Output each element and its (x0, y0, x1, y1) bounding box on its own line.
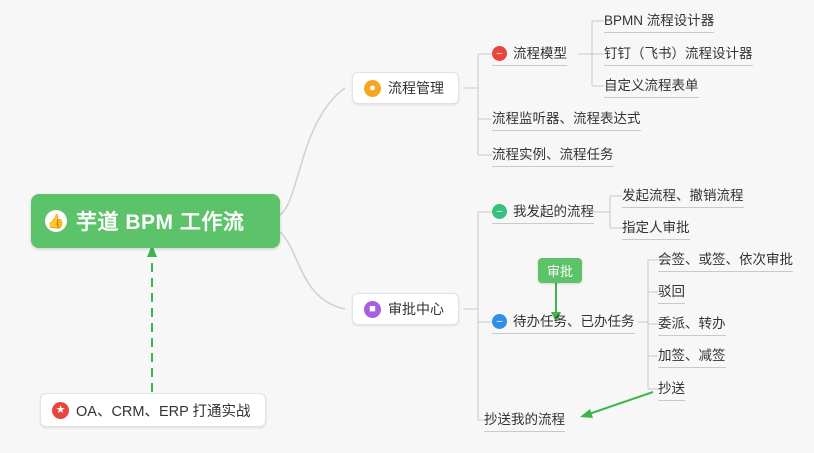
callout-label: OA、CRM、ERP 打通实战 (76, 400, 251, 421)
branch-label: 流程管理 (388, 78, 444, 98)
node-cc[interactable]: 抄送 (658, 380, 685, 401)
branch-approval-center[interactable]: ■ 审批中心 (352, 293, 459, 325)
node-label: 我发起的流程 (513, 203, 594, 220)
node-start-cancel-process[interactable]: 发起流程、撤销流程 (622, 187, 744, 208)
mindmap-canvas: 👍 芋道 BPM 工作流 ● 流程管理 – 流程模型 BPMN 流程设计器 钉钉… (0, 0, 814, 453)
chat-bubble-icon: ■ (364, 301, 381, 318)
node-label: 待办任务、已办任务 (513, 313, 635, 330)
callout-approval-tag[interactable]: 审批 (538, 258, 582, 283)
thumbs-up-icon: 👍 (45, 210, 67, 232)
node-dingtalk-designer[interactable]: 钉钉（飞书）流程设计器 (604, 45, 753, 66)
minus-circle-icon: – (492, 46, 507, 61)
node-cc-to-me[interactable]: 抄送我的流程 (484, 411, 565, 432)
node-bpmn-designer[interactable]: BPMN 流程设计器 (604, 12, 714, 33)
callout-integration[interactable]: ★ OA、CRM、ERP 打通实战 (40, 393, 266, 427)
node-custom-form[interactable]: 自定义流程表单 (604, 77, 699, 98)
minus-circle-icon: – (492, 314, 507, 329)
root-node-label: 芋道 BPM 工作流 (76, 206, 244, 236)
node-add-remove-sign[interactable]: 加签、减签 (658, 347, 726, 368)
node-countersign[interactable]: 会签、或签、依次审批 (658, 251, 793, 272)
node-assign-approver[interactable]: 指定人审批 (622, 219, 690, 240)
branch-label: 审批中心 (388, 299, 444, 319)
minus-circle-icon: – (492, 204, 507, 219)
node-todo-done-tasks[interactable]: – 待办任务、已办任务 (492, 313, 635, 334)
node-delegate-transfer[interactable]: 委派、转办 (658, 315, 726, 336)
callout-label: 审批 (547, 261, 573, 280)
lightbulb-icon: ● (364, 80, 381, 97)
node-label: 流程模型 (513, 45, 567, 62)
node-reject[interactable]: 驳回 (658, 283, 685, 304)
root-node[interactable]: 👍 芋道 BPM 工作流 (31, 194, 280, 248)
node-instance-task[interactable]: 流程实例、流程任务 (492, 146, 614, 167)
node-process-model[interactable]: – 流程模型 (492, 45, 567, 66)
star-icon: ★ (52, 402, 69, 419)
node-my-initiated[interactable]: – 我发起的流程 (492, 203, 594, 224)
node-listener-expression[interactable]: 流程监听器、流程表达式 (492, 110, 641, 131)
branch-process-management[interactable]: ● 流程管理 (352, 72, 459, 104)
